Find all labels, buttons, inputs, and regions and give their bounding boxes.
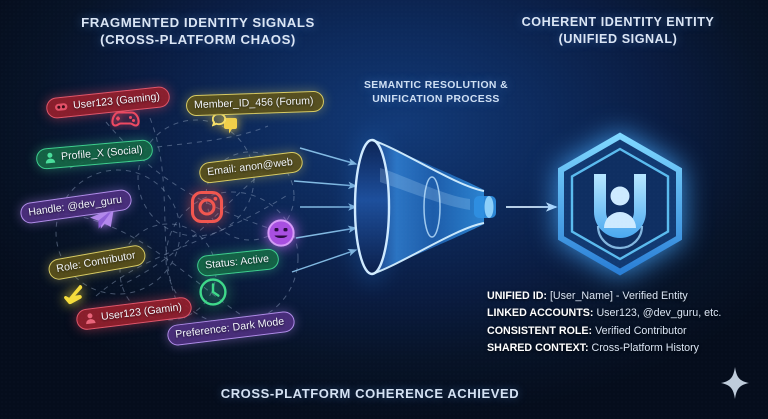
sparkle-icon (720, 366, 750, 405)
detail-key: CONSISTENT ROLE: (487, 325, 592, 337)
person-head (611, 187, 630, 206)
infographic-canvas: FRAGMENTED IDENTITY SIGNALS (CROSS-PLATF… (0, 0, 768, 419)
detail-key: SHARED CONTEXT: (487, 342, 589, 354)
detail-value: [User_Name] - Verified Entity (550, 290, 688, 302)
detail-value: User123, @dev_guru, etc. (596, 307, 721, 319)
detail-key: LINKED ACCOUNTS: (487, 307, 593, 319)
detail-key: UNIFIED ID: (487, 290, 547, 302)
detail-row-linked-accounts: LINKED ACCOUNTS: User123, @dev_guru, etc… (487, 305, 757, 322)
detail-row-unified-id: UNIFIED ID: [User_Name] - Verified Entit… (487, 288, 757, 305)
detail-row-consistent-role: CONSISTENT ROLE: Verified Contributor (487, 323, 757, 340)
detail-value: Verified Contributor (595, 325, 687, 337)
unified-entity-details: UNIFIED ID: [User_Name] - Verified Entit… (487, 288, 757, 357)
funnel-mouth (355, 140, 389, 274)
hexagon-user-badge-icon (561, 136, 679, 272)
footer-caption: CROSS-PLATFORM COHERENCE ACHIEVED (0, 386, 740, 401)
unification-funnel (355, 140, 496, 274)
detail-value: Cross-Platform History (592, 342, 699, 354)
detail-row-shared-context: SHARED CONTEXT: Cross-Platform History (487, 340, 757, 357)
